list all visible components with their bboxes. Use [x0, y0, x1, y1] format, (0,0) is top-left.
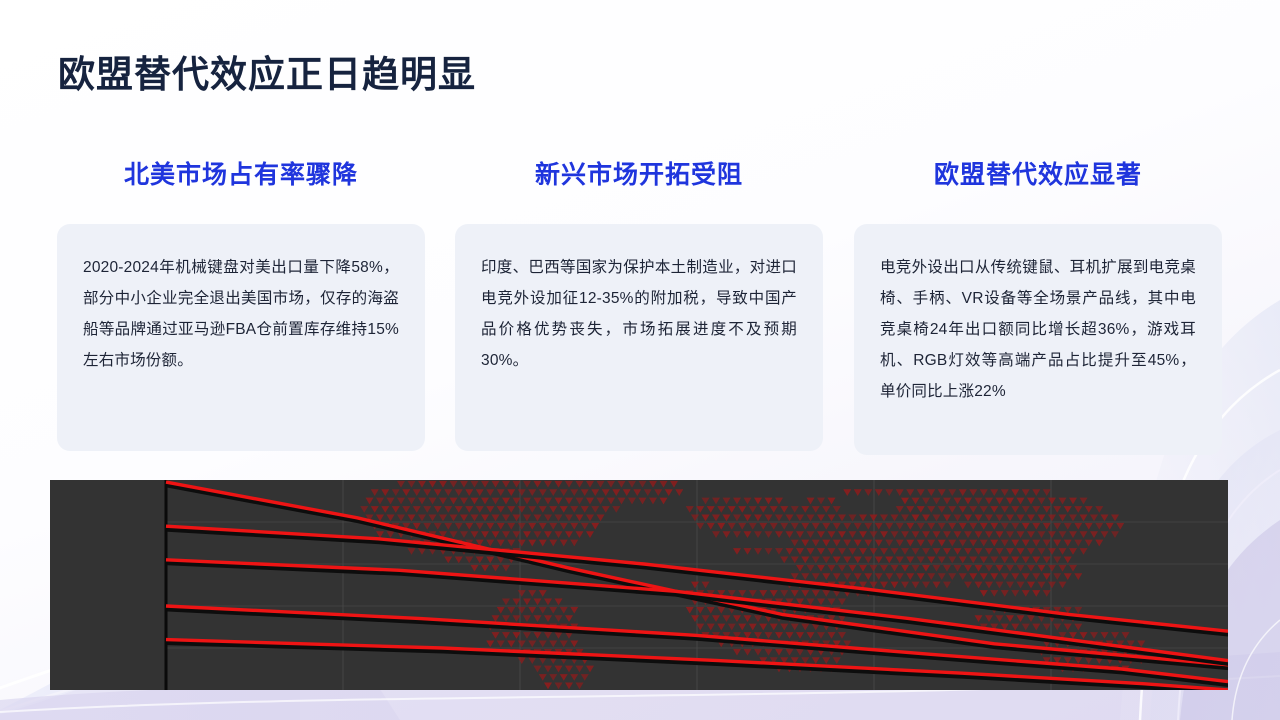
column-heading-emerging-markets: 新兴市场开拓受阻	[455, 155, 823, 191]
page-title: 欧盟替代效应正日趋明显	[58, 52, 476, 98]
card-body-text: 电竞外设出口从传统键鼠、耳机扩展到电竞桌椅、手柄、VR设备等全场景产品线，其中电…	[880, 252, 1196, 407]
slide-canvas: 欧盟替代效应正日趋明显 北美市场占有率骤降 新兴市场开拓受阻 欧盟替代效应显著 …	[0, 0, 1280, 720]
info-card-eu-substitution: 电竞外设出口从传统键鼠、耳机扩展到电竞桌椅、手柄、VR设备等全场景产品线，其中电…	[854, 224, 1222, 455]
world-map-dots	[360, 481, 1150, 689]
info-card-emerging-markets: 印度、巴西等国家为保护本土制造业，对进口电竞外设加征12-35%的附加税，导致中…	[455, 224, 823, 451]
info-card-north-america: 2020-2024年机械键盘对美出口量下降58%，部分中小企业完全退出美国市场，…	[57, 224, 425, 451]
chart-svg	[50, 480, 1228, 690]
decline-trend-chart	[50, 480, 1228, 690]
card-body-text: 2020-2024年机械键盘对美出口量下降58%，部分中小企业完全退出美国市场，…	[83, 252, 399, 376]
column-heading-north-america: 北美市场占有率骤降	[57, 155, 425, 191]
card-body-text: 印度、巴西等国家为保护本土制造业，对进口电竞外设加征12-35%的附加税，导致中…	[481, 252, 797, 376]
column-heading-eu-substitution: 欧盟替代效应显著	[854, 155, 1222, 191]
